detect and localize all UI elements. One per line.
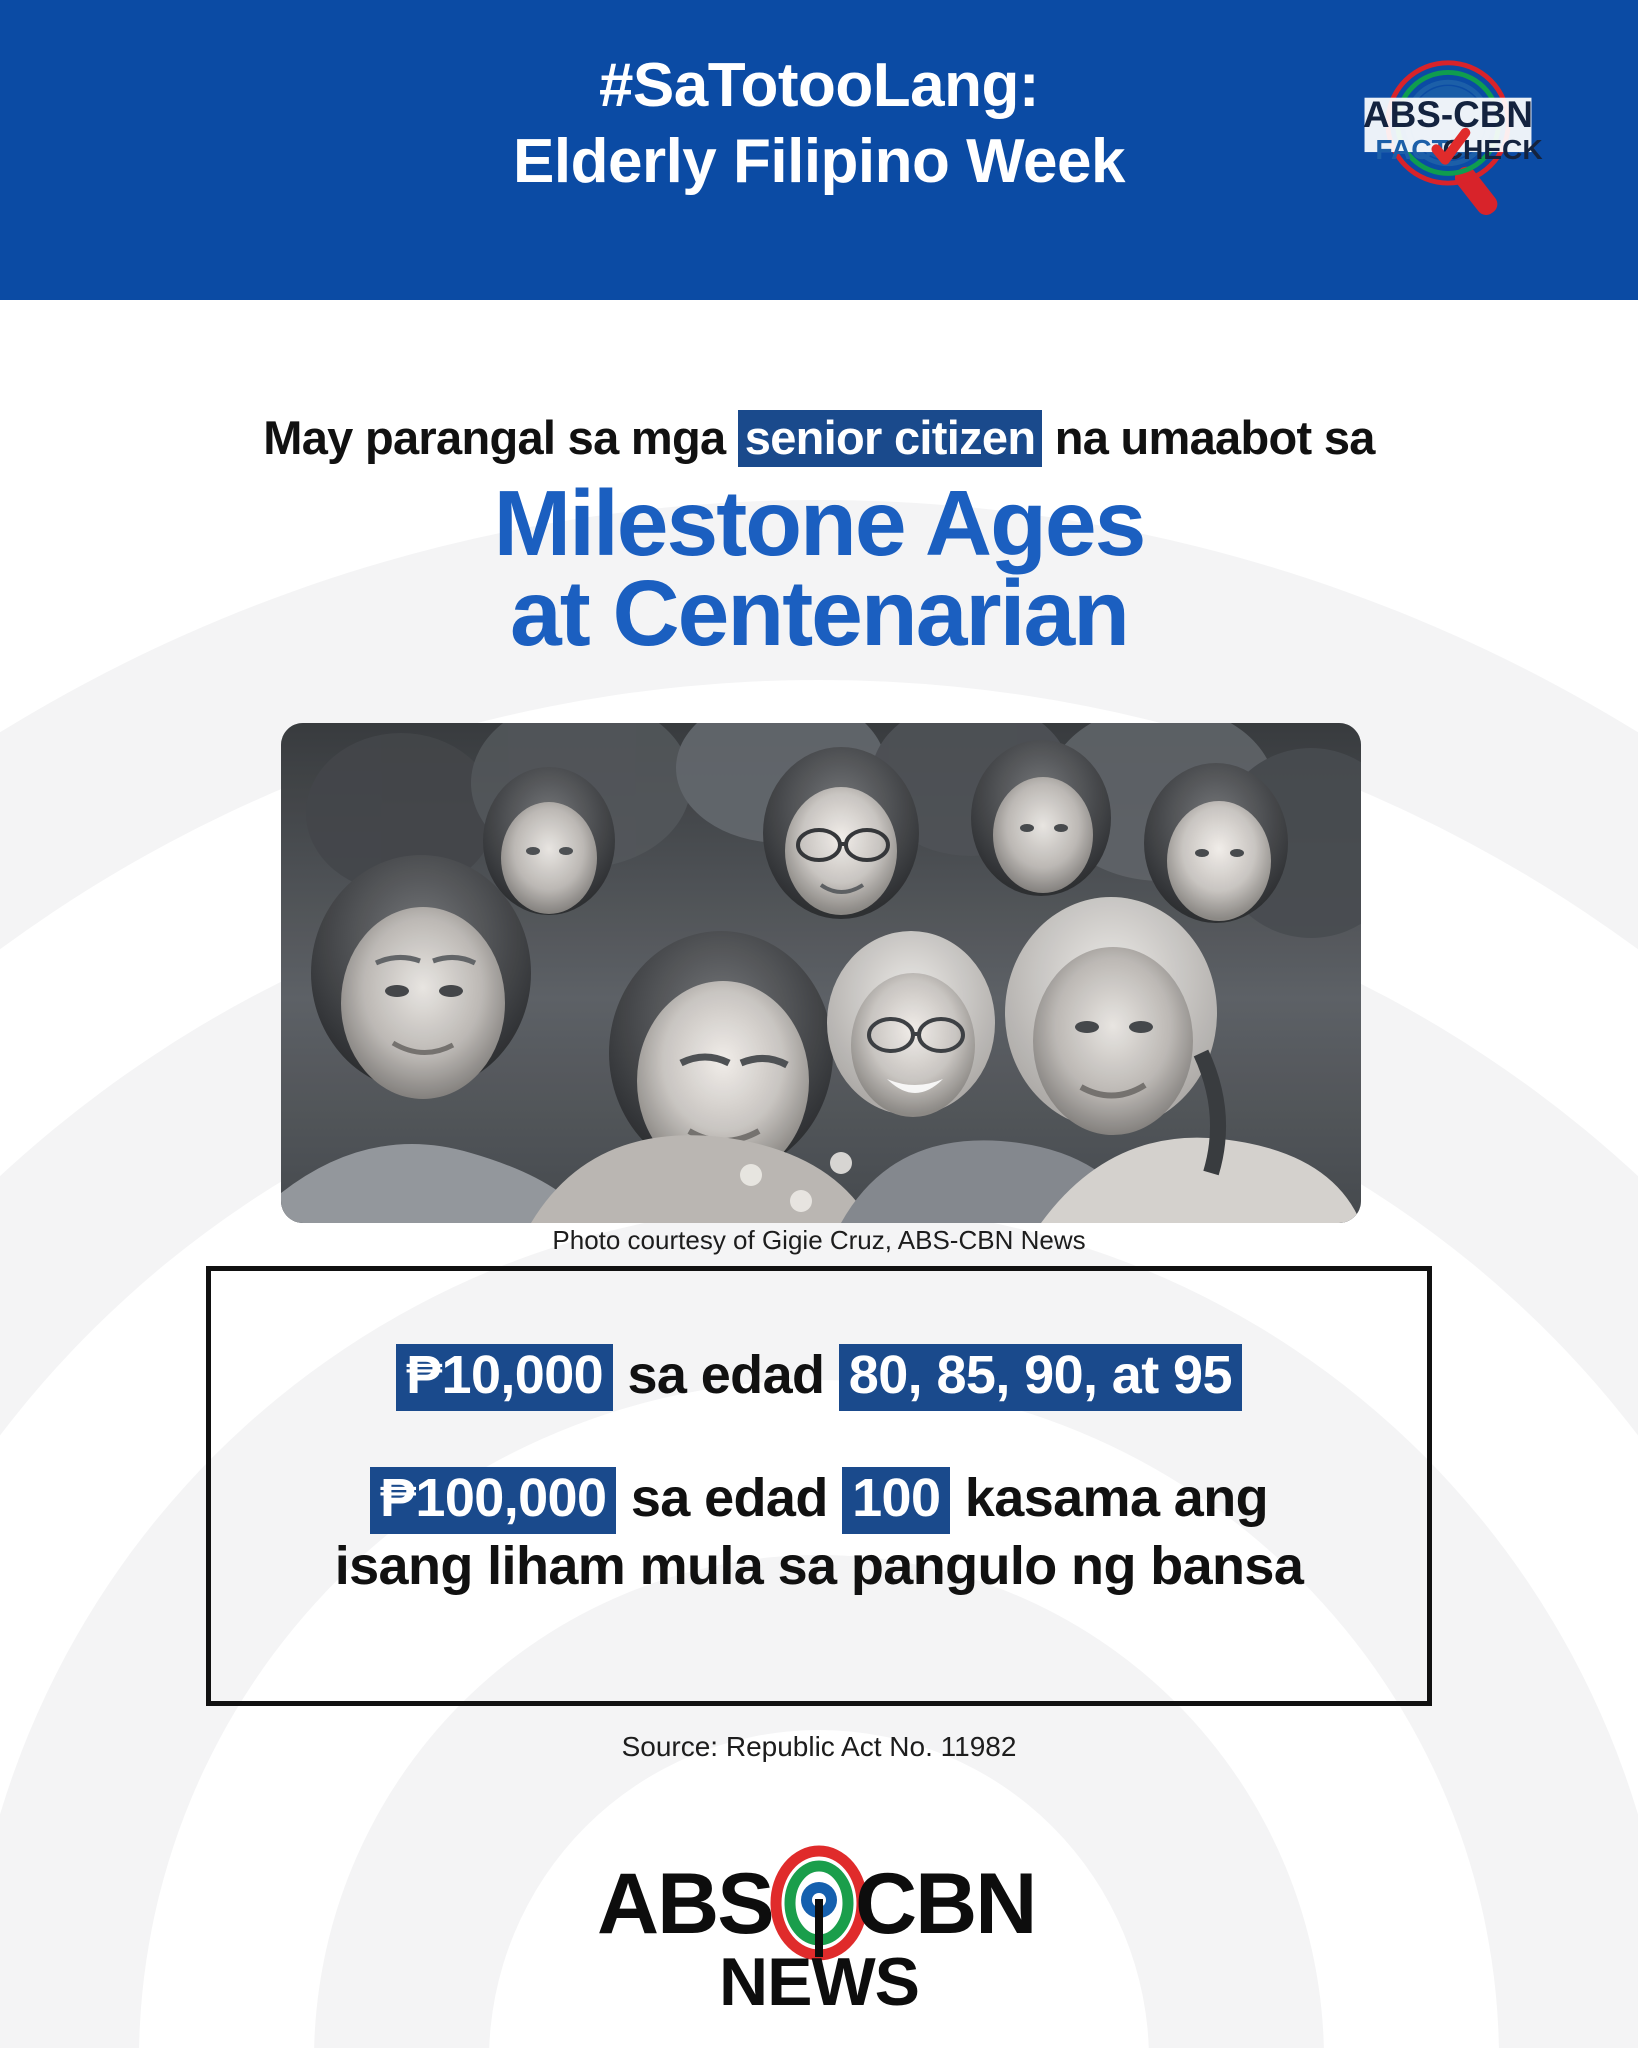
news-logo-abs-text: ABS	[597, 1856, 773, 1952]
facts-box: ₱10,000 sa edad 80, 85, 90, at 95 ₱100,0…	[206, 1266, 1432, 1706]
subheading-highlight: senior citizen	[738, 410, 1043, 467]
hero-photo	[281, 723, 1361, 1223]
infographic-poster: #SaTotooLang: Elderly Filipino Week ABS-…	[0, 0, 1638, 2048]
abs-cbn-fact-check-logo: ABS-CBN FACT CHECK	[1348, 55, 1548, 220]
source-line: Source: Republic Act No. 11982	[0, 1731, 1638, 1763]
fact-1-middle	[613, 1345, 627, 1405]
factcheck-brand-text: ABS-CBN	[1363, 94, 1533, 135]
abs-cbn-news-logo: ABS CBN NEWS	[0, 1845, 1638, 2020]
subheading: May parangal sa mga senior citizen na um…	[0, 410, 1638, 467]
hero-photo-image	[281, 723, 1361, 1223]
fact-1-ages: 80, 85, 90, at 95	[839, 1344, 1242, 1411]
header-banner: #SaTotooLang: Elderly Filipino Week ABS-…	[0, 0, 1638, 300]
subheading-after: na umaabot sa	[1042, 411, 1374, 464]
photo-caption: Photo courtesy of Gigie Cruz, ABS-CBN Ne…	[0, 1225, 1638, 1256]
fact-1-amount: ₱10,000	[396, 1344, 613, 1411]
fact-1-middle-text: sa edad	[627, 1345, 824, 1405]
fact-2-second-row: isang liham mula sa pangulo ng bansa	[335, 1536, 1304, 1596]
fact-2-amount: ₱100,000	[370, 1467, 616, 1534]
fact-2-middle-text: sa edad	[631, 1468, 828, 1528]
abs-cbn-news-logo-svg: ABS CBN NEWS	[579, 1845, 1059, 2015]
page-title: Milestone Ages at Centenarian	[0, 478, 1638, 658]
subheading-before: May parangal sa mga	[263, 411, 737, 464]
news-logo-news-text: NEWS	[719, 1944, 919, 2015]
fact-line-2: ₱100,000 sa edad 100 kasama angisang lih…	[211, 1466, 1427, 1600]
news-logo-cbn-text: CBN	[855, 1856, 1035, 1952]
fact-2-tail: kasama ang	[965, 1468, 1268, 1528]
abs-cbn-eye-icon	[776, 1851, 862, 1957]
fact-line-1: ₱10,000 sa edad 80, 85, 90, at 95	[211, 1343, 1427, 1411]
fact-2-age: 100	[842, 1467, 950, 1534]
